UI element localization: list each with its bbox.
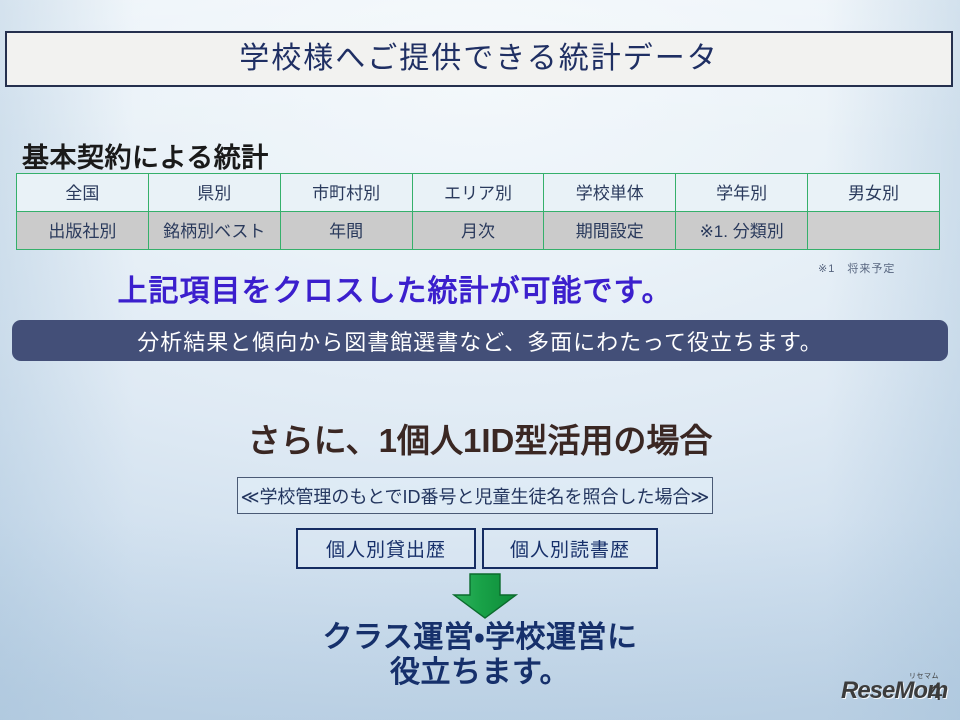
reading-history-label: 個人別読書歴: [510, 535, 630, 562]
slide-title-box: 学校様へご提供できる統計データ: [5, 31, 953, 87]
table-cell-empty: [808, 212, 940, 250]
table-cell: 市町村別: [280, 174, 412, 212]
down-arrow-icon: [452, 573, 518, 619]
conclusion-line-2: 役立ちます。: [0, 655, 960, 690]
table-cell: 県別: [148, 174, 280, 212]
table-cell: 銘柄別ベスト: [148, 212, 280, 250]
id-condition-text: ≪学校管理のもとでID番号と児童生徒名を照合した場合≫: [241, 483, 710, 509]
section-heading-basic-contract: 基本契約による統計: [22, 136, 269, 175]
page-number: 4: [929, 678, 943, 707]
lending-history-label: 個人別貸出歴: [326, 535, 446, 562]
page-title: 学校様へご提供できる統計データ: [239, 44, 718, 74]
table-cell: 出版社別: [17, 212, 149, 250]
table-row: 全国 県別 市町村別 エリア別 学校単体 学年別 男女別: [17, 174, 940, 212]
table-cell: 学校単体: [544, 174, 676, 212]
slide-canvas: 学校様へご提供できる統計データ 基本契約による統計 全国 県別 市町村別 エリア…: [0, 0, 960, 720]
benefit-banner: 分析結果と傾向から図書館選書など、多面にわたって役立ちます。: [12, 320, 948, 361]
table-cell: 期間設定: [544, 212, 676, 250]
table-cell: 月次: [412, 212, 544, 250]
cross-statistics-statement: 上記項目をクロスした統計が可能です。: [0, 266, 790, 310]
statistics-table: 全国 県別 市町村別 エリア別 学校単体 学年別 男女別 出版社別 銘柄別ベスト…: [16, 173, 940, 250]
table-cell: エリア別: [412, 174, 544, 212]
conclusion-text: クラス運営・学校運営に 役立ちます。: [0, 620, 960, 691]
table-cell: 男女別: [808, 174, 940, 212]
conclusion-line-1: クラス運営・学校運営に: [0, 620, 960, 655]
footnote-future-plan: ※1 将来予定: [818, 260, 895, 276]
table-cell: 学年別: [676, 174, 808, 212]
table-cell: ※1. 分類別: [676, 212, 808, 250]
lending-history-box: 個人別貸出歴: [296, 528, 476, 569]
reading-history-box: 個人別読書歴: [482, 528, 658, 569]
table-cell: 年間: [280, 212, 412, 250]
id-condition-box: ≪学校管理のもとでID番号と児童生徒名を照合した場合≫: [237, 477, 713, 514]
table-row: 出版社別 銘柄別ベスト 年間 月次 期間設定 ※1. 分類別: [17, 212, 940, 250]
table-cell: 全国: [17, 174, 149, 212]
one-person-one-id-headline: さらに、1個人1ID型活用の場合: [0, 414, 960, 462]
benefit-banner-text: 分析結果と傾向から図書館選書など、多面にわたって役立ちます。: [137, 325, 823, 357]
